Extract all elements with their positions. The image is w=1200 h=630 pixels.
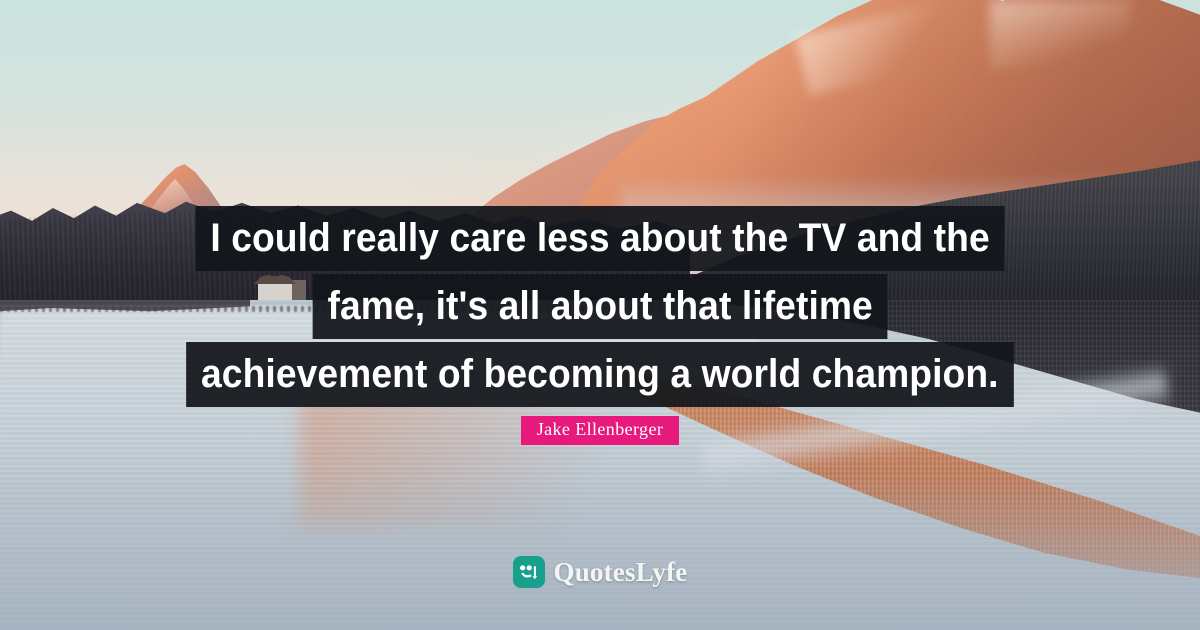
quote-line-1: I could really care less about the TV an… [195, 206, 1004, 271]
brand-logo[interactable]: QuotesLyfe [0, 556, 1200, 588]
author-badge[interactable]: Jake Ellenberger [521, 416, 680, 445]
quote-card: I could really care less about the TV an… [0, 0, 1200, 630]
snow-patch-right [990, 0, 1130, 70]
water-bottom-fade [0, 470, 1200, 630]
quote-mark-icon [513, 556, 545, 588]
quote-line-3: achievement of becoming a world champion… [186, 342, 1013, 407]
brand-name: QuotesLyfe [554, 557, 688, 588]
quote-text-block: I could really care less about the TV an… [0, 206, 1200, 407]
quote-line-2: fame, it's all about that lifetime [312, 274, 887, 339]
author-badge-wrapper: Jake Ellenberger [0, 416, 1200, 445]
